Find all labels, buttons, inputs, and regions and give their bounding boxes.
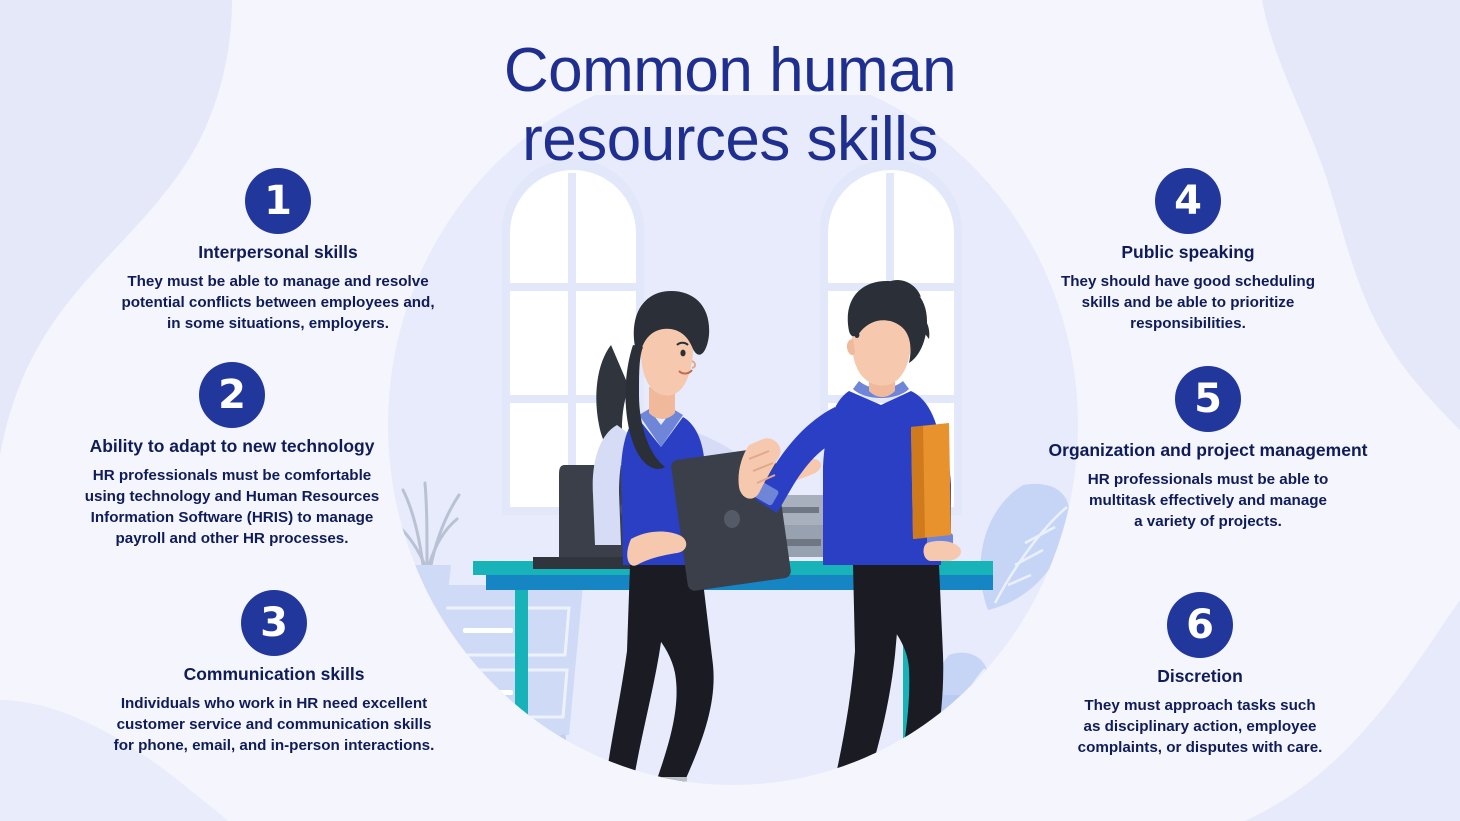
skill-number-badge-1: 1 — [245, 168, 311, 234]
skill-heading-4: Public speaking — [1000, 242, 1376, 263]
skill-description-5: HR professionals must be able to multita… — [1028, 470, 1388, 533]
poster-title: Common human resources skills — [0, 36, 1460, 175]
plant-pot — [939, 695, 1023, 785]
title-line-1: Common human — [0, 36, 1460, 105]
folder — [911, 423, 951, 539]
skill-number-badge-6: 6 — [1167, 592, 1233, 658]
skill-description-2: HR professionals must be comfortable usi… — [52, 466, 412, 550]
skill-heading-5: Organization and project management — [1028, 440, 1388, 461]
skill-number-badge-4: 4 — [1155, 168, 1221, 234]
skill-heading-3: Communication skills — [78, 664, 470, 685]
skill-number-badge-5: 5 — [1175, 366, 1241, 432]
skill-item-3: 3 Communication skills Individuals who w… — [78, 590, 470, 757]
skill-number-badge-2: 2 — [199, 362, 265, 428]
skill-description-4: They should have good scheduling skills … — [1000, 272, 1376, 335]
skill-description-6: They must approach tasks such as discipl… — [1012, 696, 1388, 759]
skill-item-1: 1 Interpersonal skills They must be able… — [78, 168, 478, 335]
infographic-poster: Common human resources skills 1 Interper… — [0, 0, 1460, 821]
skill-item-6: 6 Discretion They must approach tasks su… — [1012, 592, 1388, 759]
title-line-2: resources skills — [0, 105, 1460, 174]
office-illustration — [383, 95, 1083, 821]
skill-description-3: Individuals who work in HR need excellen… — [78, 694, 470, 757]
skill-heading-2: Ability to adapt to new technology — [52, 436, 412, 457]
skill-item-4: 4 Public speaking They should have good … — [1000, 168, 1376, 335]
skill-heading-6: Discretion — [1012, 666, 1388, 687]
skill-item-2: 2 Ability to adapt to new technology HR … — [52, 362, 412, 550]
skill-description-1: They must be able to manage and resolve … — [78, 272, 478, 335]
skill-item-5: 5 Organization and project management HR… — [1028, 366, 1388, 533]
skill-number-badge-3: 3 — [241, 590, 307, 656]
skill-heading-1: Interpersonal skills — [78, 242, 478, 263]
